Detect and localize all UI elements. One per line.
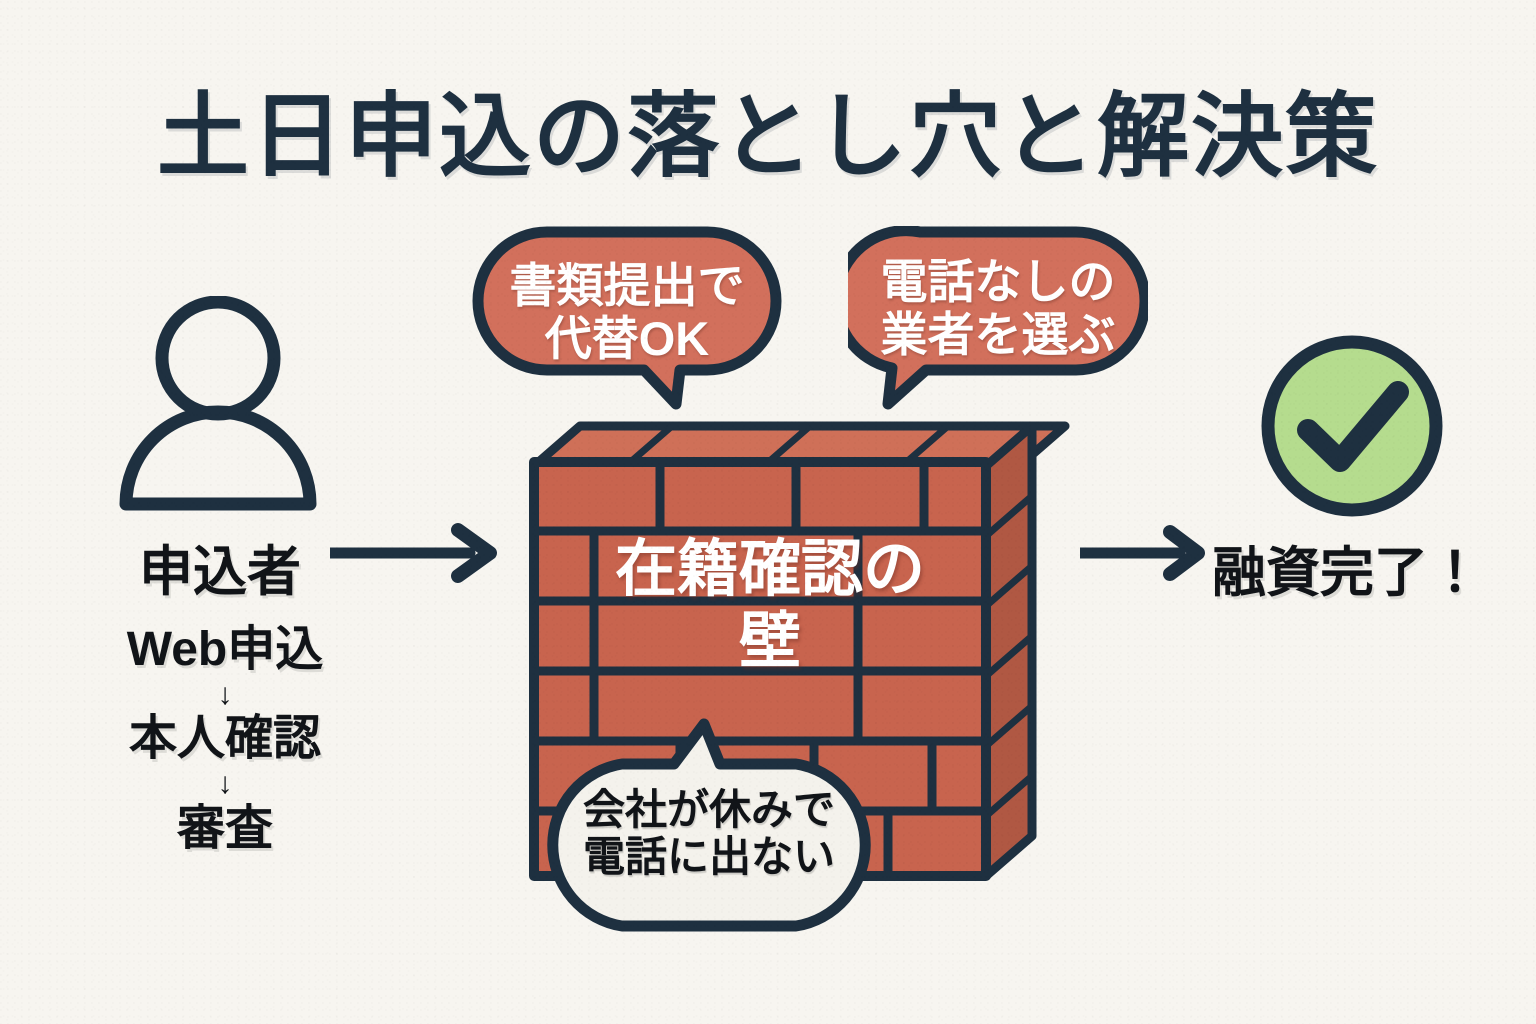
speech-bubble-shape — [472, 226, 782, 411]
flow-arrow-icon-1: ↓ — [70, 676, 380, 714]
flow-step-identity-check: 本人確認 — [70, 713, 380, 765]
speech-bubble-shape — [848, 226, 1148, 411]
person-icon — [108, 296, 328, 511]
problem-bubble: 会社が休みで 電話に出ない — [534, 712, 884, 934]
solution-bubble-no-phone: 電話なしの 業者を選ぶ — [848, 226, 1148, 411]
page-title: 土日申込の落とし穴と解決策 — [0, 62, 1536, 195]
flow-step-web-application: Web申込 — [70, 624, 380, 676]
infographic-canvas: 土日申込の落とし穴と解決策 申込者 Web申込 ↓ 本人確認 ↓ 審査 — [0, 0, 1536, 1024]
speech-bubble-shape — [534, 712, 884, 934]
arrow-right-icon-applicant-to-wall — [330, 522, 510, 584]
arrow-right-icon-wall-to-success — [1080, 522, 1220, 584]
check-circle-icon — [1256, 330, 1448, 522]
flow-step-screening: 審査 — [70, 803, 380, 855]
flow-arrow-icon-2: ↓ — [70, 765, 380, 803]
applicant-label: 申込者 — [110, 527, 330, 606]
success-label: 融資完了！ — [1212, 528, 1512, 607]
application-flow: Web申込 ↓ 本人確認 ↓ 審査 — [70, 624, 380, 854]
solution-bubble-documents: 書類提出で 代替OK — [472, 226, 782, 411]
